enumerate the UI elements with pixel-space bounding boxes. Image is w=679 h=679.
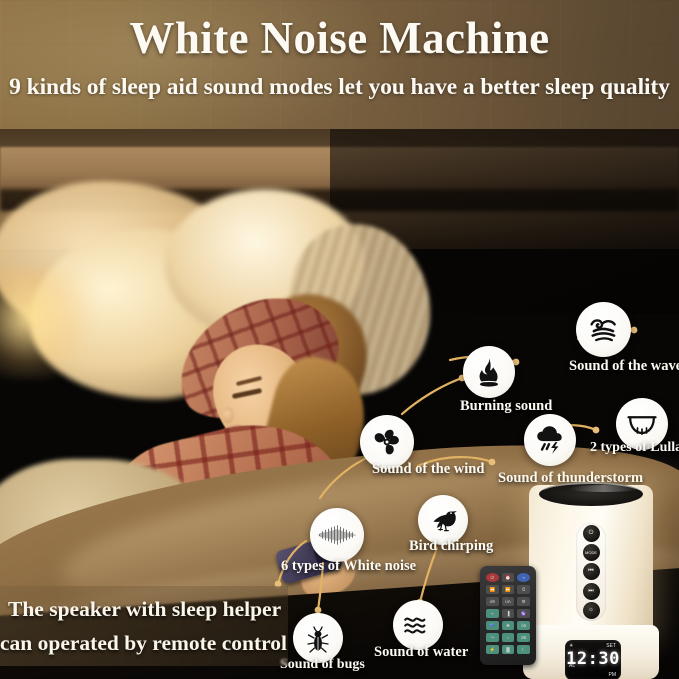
callout-label-burning: Burning sound (460, 398, 552, 415)
remote-key-white[interactable]: ▐ (502, 609, 515, 618)
speaker-prev-button[interactable]: ⏮ (583, 563, 600, 580)
remote-key-vol-up[interactable]: ὐA (502, 597, 515, 606)
waves-icon[interactable] (576, 302, 631, 357)
remote-key-waves[interactable]: ≈ (486, 609, 499, 618)
remote-key-vol-down[interactable]: ὐ9 (486, 597, 499, 606)
remote-key-settings[interactable]: ⚙ (517, 597, 530, 606)
remote-control[interactable]: ⏻ ⏰ ☼ ⏪ ⏩ ⏱ ὐ9 ὐA ⚙ ≈ ▐ ♑ ☔ ❀ ὂ6 〜 ♪ ὁB … (480, 566, 536, 665)
remote-key-water[interactable]: 〜 (486, 633, 499, 642)
remote-key-fire[interactable]: ♑ (517, 609, 530, 618)
callout-label-lullaby: 2 types of Lullaby (590, 440, 679, 456)
speaker-next-button[interactable]: ⏭ (583, 583, 600, 600)
remote-key-noise[interactable]: ▓ (502, 645, 515, 654)
callout-label-waves: Sound of the waves (569, 358, 679, 375)
callout-label-white-noise: 6 types of White noise (281, 558, 416, 575)
page-title: White Noise Machine (0, 12, 679, 64)
product-infographic: White Noise Machine 9 kinds of sleep aid… (0, 0, 679, 679)
remote-key-bird[interactable]: ὂ6 (517, 621, 530, 630)
callout-label-water: Sound of water (374, 644, 468, 661)
remote-key-next[interactable]: ⏩ (502, 585, 515, 594)
string-lights-glow (0, 269, 100, 379)
callout-label-bird: Bird chirping (409, 538, 493, 555)
remote-key-light[interactable]: ☼ (517, 573, 530, 582)
speaker-mode-button[interactable]: MODE (583, 544, 600, 561)
remote-key-fan[interactable]: ❀ (502, 621, 515, 630)
speaker-top-highlight (569, 485, 639, 492)
tagline-line-1: The speaker with sleep helper (8, 597, 281, 622)
lcd-pm-label: PM (609, 672, 617, 678)
fire-icon[interactable] (463, 346, 515, 398)
callout-label-bugs: Sound of bugs (280, 657, 365, 673)
speaker-power-button[interactable]: ⏻ (583, 525, 600, 542)
speaker-grille-top (539, 482, 643, 506)
callout-label-wind: Sound of the wind (372, 461, 484, 478)
remote-key-alarm[interactable]: ⏰ (502, 573, 515, 582)
remote-key-lullaby[interactable]: ♪ (502, 633, 515, 642)
remote-key-thunder[interactable]: ⚡ (486, 645, 499, 654)
speaker-control-panel[interactable]: ⏻ MODE ⏮ ⏭ ☼ (576, 523, 606, 621)
header-banner: White Noise Machine 9 kinds of sleep aid… (0, 0, 679, 129)
white-noise-machine[interactable]: ⏻ MODE ⏮ ⏭ ☼ ☀ SET 12:30 AL PM (523, 485, 659, 679)
remote-key-rain[interactable]: ☔ (486, 621, 499, 630)
remote-key-timer[interactable]: ⏱ (517, 585, 530, 594)
lcd-alarm-label: AL (569, 663, 575, 669)
speaker-lcd-display: ☀ SET 12:30 AL PM (565, 640, 621, 679)
remote-key-sleep[interactable]: ☾ (517, 645, 530, 654)
waveform-icon[interactable] (310, 508, 364, 562)
water-icon[interactable] (393, 600, 443, 650)
thunderstorm-icon[interactable] (524, 414, 576, 466)
speaker-light-button[interactable]: ☼ (583, 602, 600, 619)
remote-key-bug[interactable]: ὁB (517, 633, 530, 642)
remote-key-prev[interactable]: ⏪ (486, 585, 499, 594)
nose (222, 407, 234, 423)
page-subtitle: 9 kinds of sleep aid sound modes let you… (0, 74, 679, 101)
tagline-line-2: can operated by remote control (0, 631, 287, 656)
bug-icon[interactable] (293, 613, 343, 663)
remote-key-power[interactable]: ⏻ (486, 573, 499, 582)
